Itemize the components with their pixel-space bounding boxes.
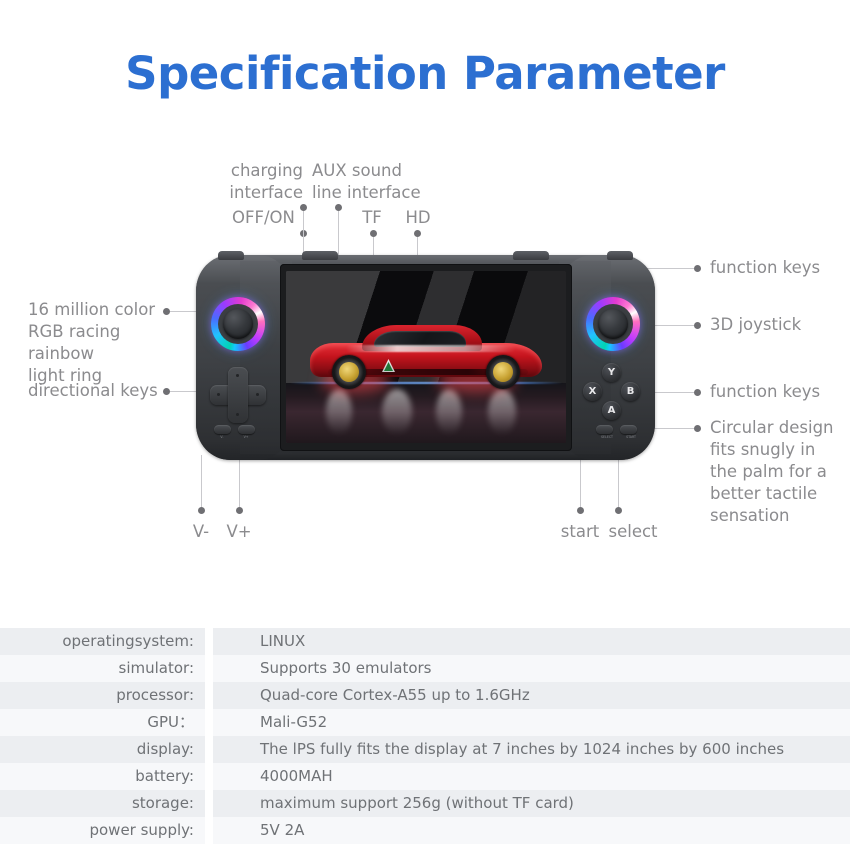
callout-function-keys-top: function keys <box>710 257 850 279</box>
callout-aux-interface: AUX sound line interface <box>312 160 432 204</box>
shoulder-button-r2[interactable] <box>607 251 633 260</box>
leader-dot-circular-design <box>694 425 701 432</box>
product-spec-page: Specification Parameter charging interfa… <box>0 0 850 850</box>
leader-line-hd <box>417 237 418 256</box>
handheld-game-console: V- V+ Y X B A SELECT START <box>196 255 655 460</box>
spec-row: operatingsystem:LINUX <box>0 628 850 655</box>
dpad-pip-down <box>236 413 239 416</box>
callout-function-keys-bottom: function keys <box>710 381 850 403</box>
callout-volume-up: V+ <box>222 521 256 543</box>
button-x[interactable]: X <box>583 382 602 401</box>
dpad-pip-left <box>217 393 220 396</box>
callout-hd: HD <box>400 207 436 229</box>
leader-line-volume-down <box>201 455 202 507</box>
callout-charging-interface: charging interface <box>228 160 303 204</box>
spec-value: Mali-G52 <box>213 709 850 736</box>
volume-up-label: V+ <box>236 435 256 439</box>
floor-reflection <box>382 389 412 435</box>
leader-dot-aux <box>335 204 342 211</box>
callout-circular-design: Circular design fits snugly in the palm … <box>710 417 845 527</box>
spec-value: 5V 2A <box>213 817 850 844</box>
leader-line-select <box>618 455 619 507</box>
leader-dot-hd <box>414 230 421 237</box>
start-label: START <box>621 435 641 439</box>
spec-row: power supply:5V 2A <box>0 817 850 844</box>
spec-label: simulator: <box>0 655 205 682</box>
page-title: Specification Parameter <box>0 47 850 100</box>
button-a[interactable]: A <box>602 401 621 420</box>
dpad-pip-right <box>256 393 259 396</box>
start-button[interactable] <box>620 425 637 434</box>
callout-select: select <box>606 521 660 543</box>
spec-value: Quad-core Cortex-A55 up to 1.6GHz <box>213 682 850 709</box>
shoulder-button-l2[interactable] <box>218 251 244 260</box>
volume-down-button[interactable] <box>214 425 231 434</box>
directional-pad[interactable] <box>210 367 266 423</box>
spec-label: GPU： <box>0 709 205 736</box>
leader-dot-function-keys-top <box>694 265 701 272</box>
device-screen <box>286 271 566 443</box>
sports-car-image <box>310 323 542 389</box>
leader-dot-tf <box>370 230 377 237</box>
car-rear-wheel <box>486 355 520 389</box>
spec-value: The lPS fully fits the display at 7 inch… <box>213 736 850 763</box>
dpad-pip-up <box>236 374 239 377</box>
right-analog-stick[interactable] <box>598 309 628 339</box>
screen-bezel <box>280 264 572 451</box>
action-button-cluster[interactable]: Y X B A <box>583 363 641 421</box>
leader-dot-select <box>615 507 622 514</box>
car-front-wheel <box>332 355 366 389</box>
select-label: SELECT <box>597 435 617 439</box>
spec-row: GPU：Mali-G52 <box>0 709 850 736</box>
leader-dot-rgb-ring <box>163 308 170 315</box>
callout-directional-keys: directional keys <box>28 380 178 402</box>
leader-line-tf <box>373 237 374 256</box>
spec-row: simulator:Supports 30 emulators <box>0 655 850 682</box>
button-b[interactable]: B <box>621 382 640 401</box>
callout-tf: TF <box>357 207 387 229</box>
leader-dot-joystick <box>694 322 701 329</box>
leader-dot-start <box>577 507 584 514</box>
select-button[interactable] <box>596 425 613 434</box>
spec-label: storage: <box>0 790 205 817</box>
leader-line-volume-up <box>239 455 240 507</box>
spec-row: battery:4000MAH <box>0 763 850 790</box>
floor-reflection <box>326 389 352 435</box>
spec-row: storage:maximum support 256g (without TF… <box>0 790 850 817</box>
spec-label: power supply: <box>0 817 205 844</box>
leader-line-start <box>580 455 581 507</box>
callout-volume-down: V- <box>186 521 216 543</box>
spec-row: processor:Quad-core Cortex-A55 up to 1.6… <box>0 682 850 709</box>
leader-dot-function-keys-bottom <box>694 389 701 396</box>
leader-dot-volume-down <box>198 507 205 514</box>
leader-dot-volume-up <box>236 507 243 514</box>
volume-up-button[interactable] <box>238 425 255 434</box>
left-analog-stick[interactable] <box>223 309 253 339</box>
spec-value: 4000MAH <box>213 763 850 790</box>
callout-3d-joystick: 3D joystick <box>710 314 850 336</box>
spec-row: display:The lPS fully fits the display a… <box>0 736 850 763</box>
spec-value: LINUX <box>213 628 850 655</box>
spec-value: Supports 30 emulators <box>213 655 850 682</box>
car-highlight <box>346 345 516 352</box>
floor-reflection <box>436 389 462 435</box>
spec-label: operatingsystem: <box>0 628 205 655</box>
shoulder-button-l1[interactable] <box>302 251 338 260</box>
leader-dot-charging <box>300 204 307 211</box>
specification-table: operatingsystem:LINUXsimulator:Supports … <box>0 628 850 844</box>
leader-line-aux <box>338 211 339 256</box>
spec-label: processor: <box>0 682 205 709</box>
button-y[interactable]: Y <box>602 363 621 382</box>
floor-reflection <box>488 389 516 435</box>
spec-label: battery: <box>0 763 205 790</box>
spec-label: display: <box>0 736 205 763</box>
callout-start: start <box>556 521 604 543</box>
callout-off-on: OFF/ON <box>232 207 312 229</box>
spec-value: maximum support 256g (without TF card) <box>213 790 850 817</box>
shoulder-button-r1[interactable] <box>513 251 549 260</box>
leader-dot-dpad <box>163 388 170 395</box>
callout-rgb-light-ring: 16 million color RGB racing rainbow ligh… <box>28 299 178 387</box>
volume-down-label: V- <box>212 435 232 439</box>
